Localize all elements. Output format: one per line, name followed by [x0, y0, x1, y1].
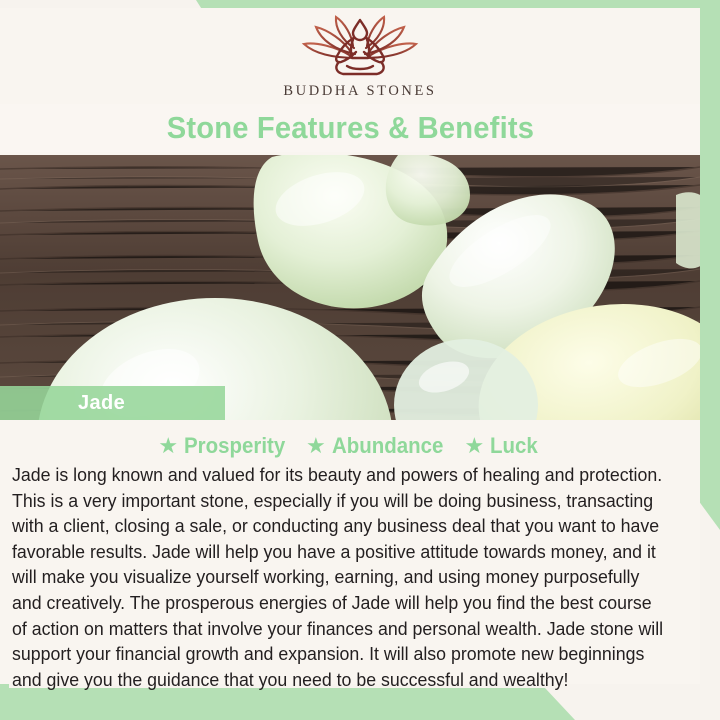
stone-name-bar: Jade	[0, 386, 225, 420]
benefit-label: Luck	[490, 433, 538, 459]
stone-photo	[0, 155, 700, 420]
stone-description: Jade is long known and valued for its be…	[12, 462, 664, 692]
brand-logo-block: BUDDHA STONES	[0, 14, 720, 100]
benefit-label: Prosperity	[184, 433, 285, 459]
benefits-row: ★ Prosperity ★ Abundance ★ Luck	[0, 430, 700, 462]
stone-photo-illustration	[0, 155, 700, 420]
stone-name-label: Jade	[78, 392, 125, 415]
benefit-item-prosperity: ★ Prosperity	[158, 433, 293, 459]
lotus-meditation-figure-icon	[295, 14, 425, 80]
star-icon: ★	[465, 435, 485, 457]
brand-name: BUDDHA STONES	[283, 83, 436, 100]
star-icon: ★	[306, 435, 326, 457]
benefit-item-luck: ★ Luck	[465, 433, 542, 459]
benefit-item-abundance: ★ Abundance	[306, 433, 452, 459]
decorative-bottom-green-band	[0, 688, 720, 720]
stone-info-card: BUDDHA STONES Stone Features & Benefits	[0, 0, 720, 720]
title-banner: Stone Features & Benefits	[0, 104, 700, 152]
page-title: Stone Features & Benefits	[166, 110, 533, 146]
benefit-label: Abundance	[332, 433, 443, 459]
star-icon: ★	[158, 435, 178, 457]
